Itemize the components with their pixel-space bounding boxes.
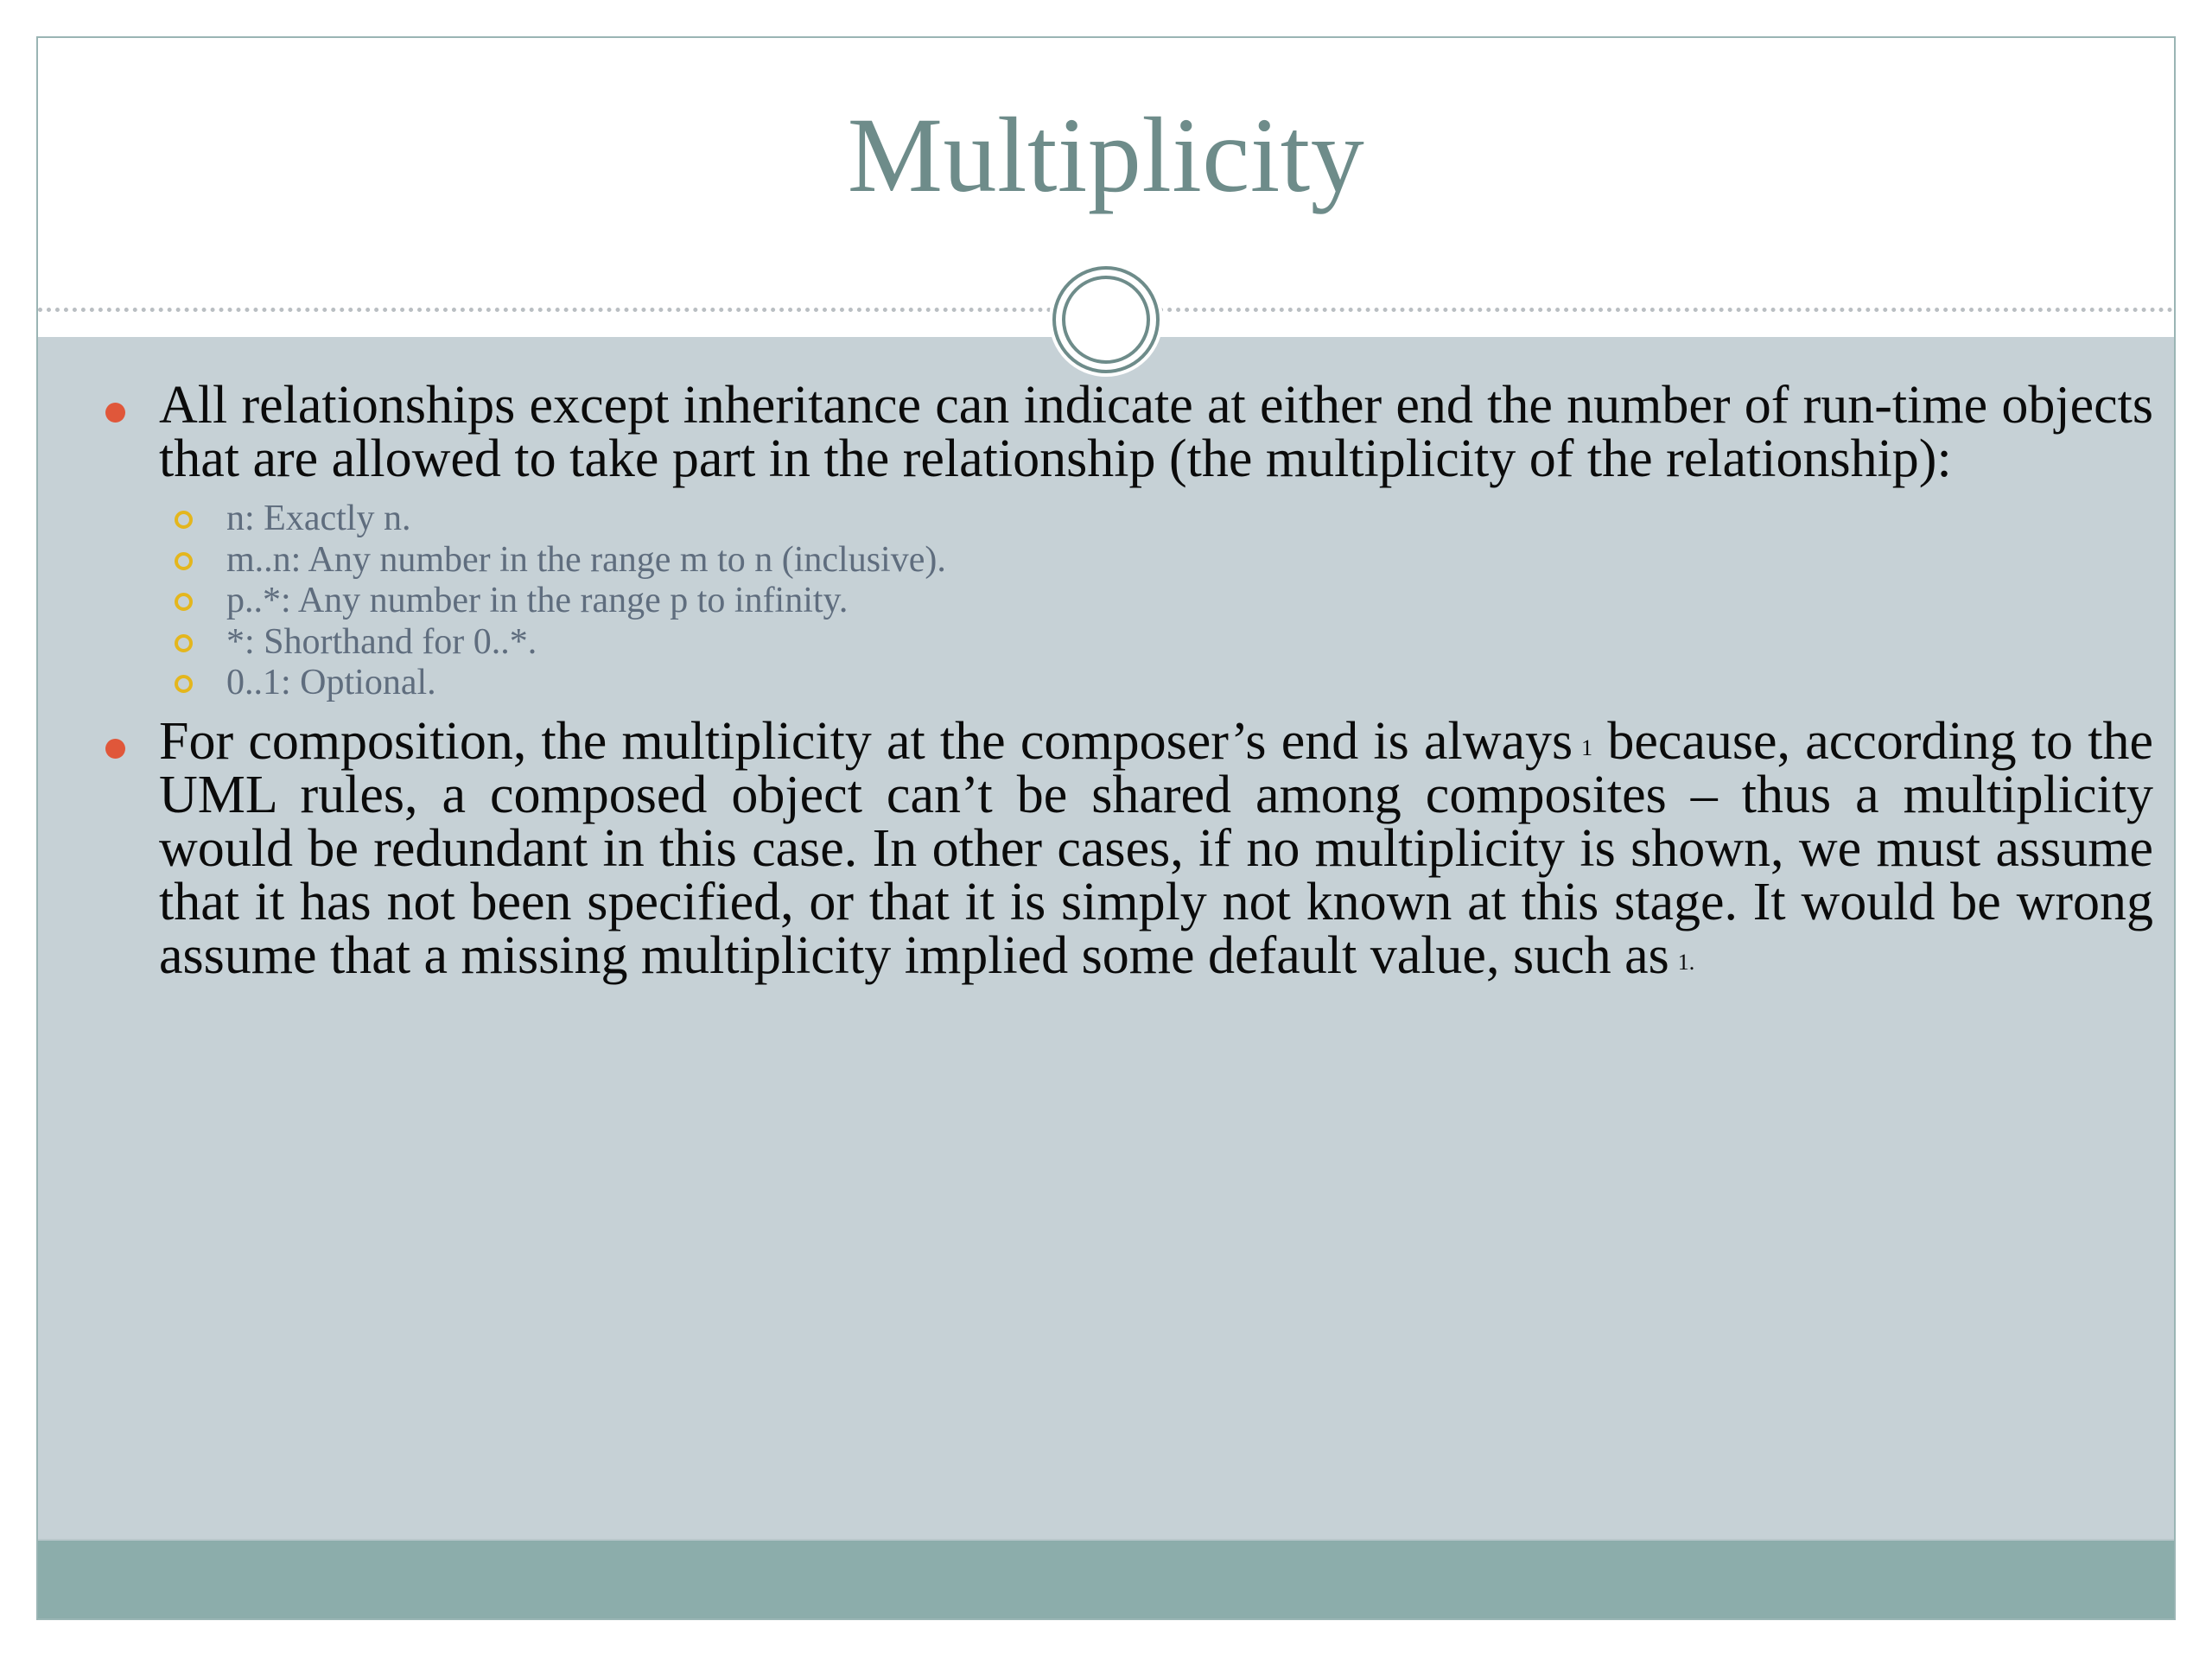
sub-bullet-text: n: Exactly n. — [226, 499, 410, 538]
sub-bullet-text: 0..1: Optional. — [226, 663, 436, 702]
bullet-dot-icon — [105, 739, 125, 759]
slide-canvas: Multiplicity All relationships except in… — [36, 36, 2176, 1620]
list-item: For composition, the multiplicity at the… — [92, 715, 2153, 982]
bullet-text: All relationships except inheritance can… — [159, 376, 2153, 488]
sub-bullet-ring-icon — [175, 634, 193, 652]
sub-bullet-text: *: Shorthand for 0..*. — [226, 622, 537, 662]
bottom-accent-bar — [38, 1539, 2174, 1618]
page-title: Multiplicity — [38, 102, 2174, 209]
list-item: *: Shorthand for 0..*. — [92, 623, 2153, 662]
list-item: p..*: Any number in the range p to infin… — [92, 582, 2153, 620]
multiplicity-value-one: 1 — [1573, 735, 1592, 760]
inner-ring-icon — [1062, 276, 1150, 364]
sub-bullet-text: p..*: Any number in the range p to infin… — [226, 581, 848, 620]
list-item: n: Exactly n. — [92, 499, 2153, 538]
bullet-dot-icon — [105, 403, 125, 423]
slide-body-area: All relationships except inheritance can… — [38, 337, 2174, 1618]
sub-bullet-ring-icon — [175, 675, 193, 693]
list-item: m..n: Any number in the range m to n (in… — [92, 541, 2153, 580]
sub-bullet-group: n: Exactly n. m..n: Any number in the ra… — [92, 499, 2153, 702]
circle-ornament-icon — [1049, 263, 1163, 377]
list-item: All relationships except inheritance can… — [92, 378, 2153, 486]
sub-bullet-ring-icon — [175, 552, 193, 570]
sub-bullet-ring-icon — [175, 511, 193, 529]
default-value-one: 1. — [1669, 950, 1695, 975]
sub-bullet-text: m..n: Any number in the range m to n (in… — [226, 540, 946, 580]
content-list: All relationships except inheritance can… — [92, 378, 2153, 982]
bullet-text-part-a: For composition, the multiplicity at the… — [159, 712, 1573, 771]
list-item: 0..1: Optional. — [92, 664, 2153, 702]
sub-bullet-ring-icon — [175, 593, 193, 611]
